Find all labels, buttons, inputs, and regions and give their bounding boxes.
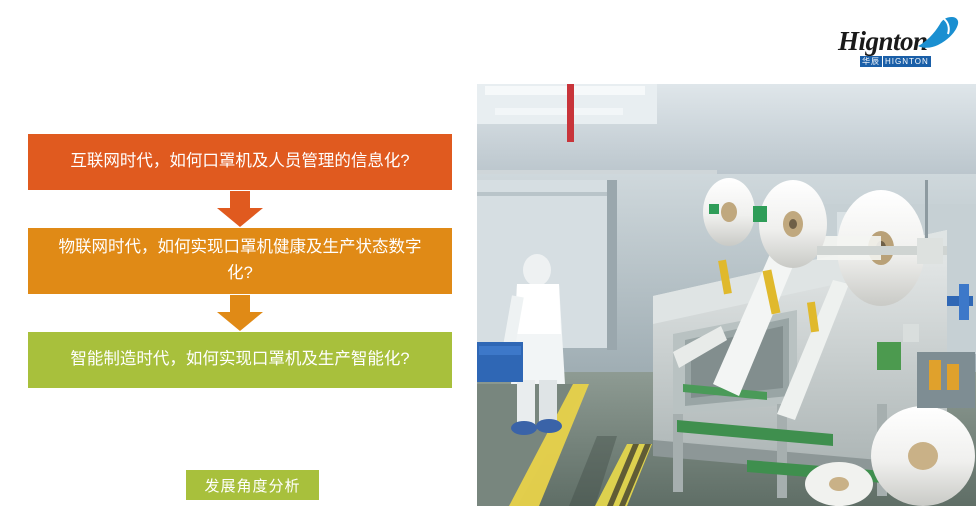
- caption-label: 发展角度分析: [204, 475, 300, 496]
- down-arrow-icon: [217, 191, 263, 227]
- brand-logo: Hignton 华辰HIGNTON: [838, 18, 962, 70]
- flow-box-3-label: 智能制造时代，如何实现口罩机及生产智能化?: [70, 347, 409, 373]
- flow-arrow-1-wrap: [28, 190, 452, 228]
- flow-arrow-2-wrap: [28, 294, 452, 332]
- brand-subtitle-cn: 华辰: [860, 56, 882, 67]
- brand-subtitle: 华辰HIGNTON: [860, 56, 932, 67]
- flow-box-1-label: 互联网时代，如何口罩机及人员管理的信息化?: [70, 149, 409, 175]
- caption-chip: 发展角度分析: [186, 470, 319, 500]
- arrow-head: [217, 312, 263, 331]
- arrow-stem: [230, 295, 250, 313]
- swoosh-icon: [914, 16, 960, 50]
- factory-photo: [477, 84, 976, 506]
- flow-diagram: 互联网时代，如何口罩机及人员管理的信息化? 物联网时代，如何实现口罩机健康及生产…: [28, 134, 452, 388]
- flow-box-3: 智能制造时代，如何实现口罩机及生产智能化?: [28, 332, 452, 388]
- flow-box-2-label: 物联网时代，如何实现口罩机健康及生产状态数字化?: [54, 235, 426, 286]
- flow-box-2: 物联网时代，如何实现口罩机健康及生产状态数字化?: [28, 228, 452, 294]
- factory-photo-illustration: [477, 84, 976, 506]
- brand-subtitle-en: HIGNTON: [883, 56, 931, 67]
- arrow-stem: [230, 191, 250, 209]
- arrow-head: [217, 208, 263, 227]
- down-arrow-icon: [217, 295, 263, 331]
- flow-box-1: 互联网时代，如何口罩机及人员管理的信息化?: [28, 134, 452, 190]
